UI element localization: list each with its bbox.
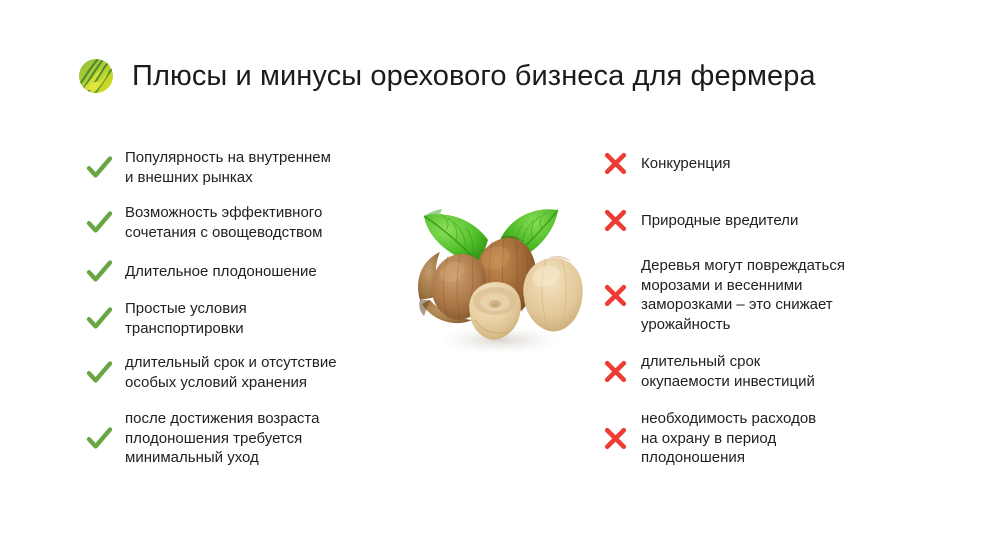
pro-item-label: Популярность на внутреннеми внешних рынк… xyxy=(125,148,331,187)
con-item-line: на охрану в период xyxy=(641,429,816,449)
check-icon xyxy=(86,425,113,452)
con-item: Деревья могут повреждатьсяморозами и вес… xyxy=(602,256,932,334)
con-item-label: длительный срококупаемости инвестиций xyxy=(641,352,815,391)
pro-item-line: сочетания с овощеводством xyxy=(125,223,322,243)
con-item: необходимость расходовна охрану в период… xyxy=(602,409,932,468)
con-item-label: Деревья могут повреждатьсяморозами и вес… xyxy=(641,256,845,334)
check-icon xyxy=(86,154,113,181)
check-icon xyxy=(86,209,113,236)
pro-item-line: транспортировки xyxy=(125,319,247,339)
cross-icon xyxy=(602,150,629,177)
con-item-line: необходимость расходов xyxy=(641,409,816,429)
pro-item: Возможность эффективногосочетания с овощ… xyxy=(86,203,406,242)
pro-item-line: после достижения возраста xyxy=(125,409,319,429)
check-icon xyxy=(86,258,113,285)
con-item-line: морозами и весенними xyxy=(641,276,845,296)
con-item-line: длительный срок xyxy=(641,352,815,372)
pro-item-line: Длительное плодоношение xyxy=(125,262,317,282)
pro-item-line: минимальный уход xyxy=(125,448,319,468)
con-item: Конкуренция xyxy=(602,150,932,177)
pro-item-line: особых условий хранения xyxy=(125,373,337,393)
pro-item: Популярность на внутреннеми внешних рынк… xyxy=(86,148,406,187)
pro-item-line: Популярность на внутреннем xyxy=(125,148,331,168)
pro-item-line: и внешних рынках xyxy=(125,168,331,188)
pros-column: Популярность на внутреннеми внешних рынк… xyxy=(86,148,406,468)
con-item-line: заморозками – это снижает xyxy=(641,295,845,315)
con-item: Природные вредители xyxy=(602,207,932,234)
con-item-line: окупаемости инвестиций xyxy=(641,372,815,392)
con-item: длительный срококупаемости инвестиций xyxy=(602,352,932,391)
page-header: Плюсы и минусы орехового бизнеса для фер… xyxy=(78,40,816,113)
pro-item-label: после достижения возрастаплодоношения тр… xyxy=(125,409,319,468)
pro-item-line: плодоношения требуется xyxy=(125,429,319,449)
con-item-line: Деревья могут повреждаться xyxy=(641,256,845,276)
pro-item-line: Возможность эффективного xyxy=(125,203,322,223)
cons-column: КонкуренцияПриродные вредителиДеревья мо… xyxy=(602,148,932,468)
pro-item-label: длительный срок и отсутствиеособых услов… xyxy=(125,353,337,392)
hazelnuts-with-leaves-image xyxy=(396,188,600,366)
cross-icon xyxy=(602,425,629,452)
con-item-label: Конкуренция xyxy=(641,154,731,174)
check-icon xyxy=(86,305,113,332)
infographic-page: Плюсы и минусы орехового бизнеса для фер… xyxy=(0,0,993,552)
pro-item: после достижения возрастаплодоношения тр… xyxy=(86,409,406,468)
pro-item-label: Возможность эффективногосочетания с овощ… xyxy=(125,203,322,242)
page-title: Плюсы и минусы орехового бизнеса для фер… xyxy=(132,59,816,93)
con-item-line: Конкуренция xyxy=(641,154,731,174)
pro-item: Простые условиятранспортировки xyxy=(86,299,406,338)
leaf-sphere-logo-icon xyxy=(78,58,114,94)
pro-item-line: Простые условия xyxy=(125,299,247,319)
con-item-label: необходимость расходовна охрану в период… xyxy=(641,409,816,468)
cross-icon xyxy=(602,358,629,385)
pro-item-line: длительный срок и отсутствие xyxy=(125,353,337,373)
con-item-line: урожайность xyxy=(641,315,845,335)
con-item-line: Природные вредители xyxy=(641,211,798,231)
pro-item-label: Длительное плодоношение xyxy=(125,262,317,282)
con-item-line: плодоношения xyxy=(641,448,816,468)
check-icon xyxy=(86,359,113,386)
cross-icon xyxy=(602,282,629,309)
pro-item: Длительное плодоношение xyxy=(86,258,406,285)
cross-icon xyxy=(602,207,629,234)
pro-item: длительный срок и отсутствиеособых услов… xyxy=(86,353,406,392)
con-item-label: Природные вредители xyxy=(641,211,798,231)
pro-item-label: Простые условиятранспортировки xyxy=(125,299,247,338)
